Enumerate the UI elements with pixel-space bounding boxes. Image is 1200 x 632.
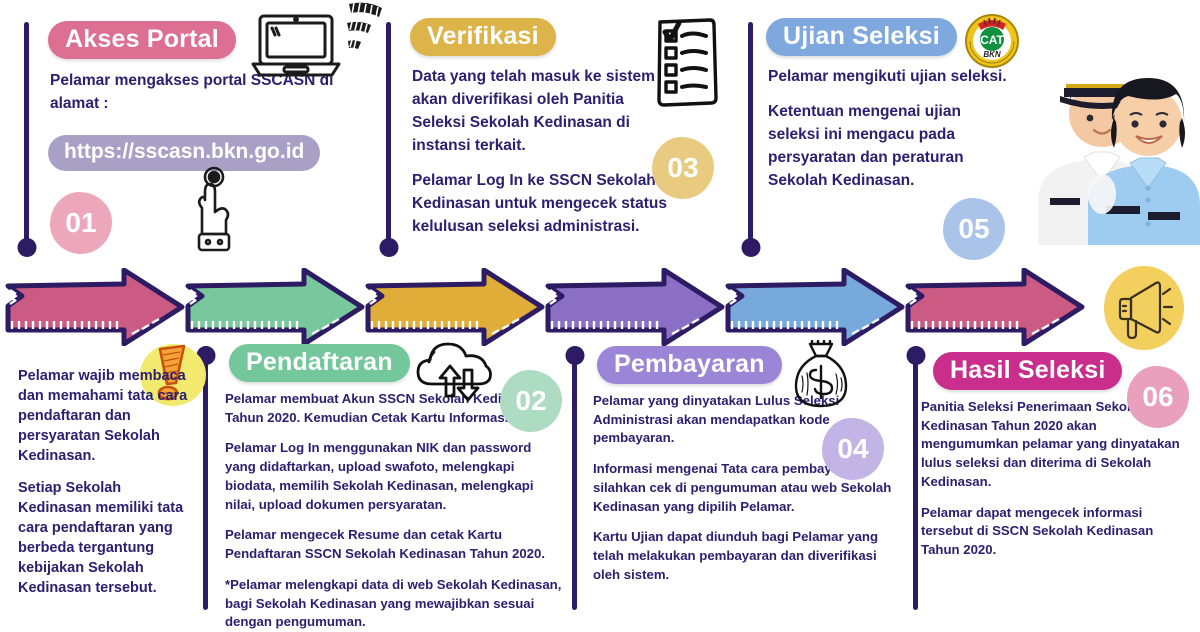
laptop-wifi-icon bbox=[248, 2, 388, 85]
step-05-body: Pelamar mengikuti ujian seleksi. Ketentu… bbox=[768, 66, 1008, 193]
timeline-knob-03 bbox=[379, 238, 398, 257]
step-05-number-bubble: 05 bbox=[943, 198, 1005, 260]
cloud-upload-download-icon bbox=[412, 334, 498, 409]
step-04-paragraph-3: Kartu Ujian dapat diunduh bagi Pelamar y… bbox=[593, 528, 893, 584]
step-06-title: Hasil Seleksi bbox=[950, 356, 1105, 384]
process-arrow-band bbox=[0, 268, 1200, 346]
step-02-title: Pendaftaran bbox=[246, 348, 393, 376]
step-02-paragraph-3: Pelamar mengecek Resume dan cetak Kartu … bbox=[225, 526, 565, 563]
step-02-number-bubble: 02 bbox=[500, 370, 562, 432]
timeline-knob-05 bbox=[741, 238, 760, 257]
step-02-paragraph-4: *Pelamar melengkapi data di web Sekolah … bbox=[225, 576, 565, 632]
step-03-paragraph-2: Pelamar Log In ke SSCN Sekolah Kedinasan… bbox=[412, 170, 672, 239]
step-01-title: Akses Portal bbox=[65, 25, 219, 53]
process-arrow-4 bbox=[544, 268, 726, 346]
step-03-title: Verifikasi bbox=[427, 22, 539, 50]
process-arrow-1 bbox=[4, 268, 186, 346]
step-04-number: 04 bbox=[837, 433, 868, 465]
step-02-number: 02 bbox=[515, 385, 546, 417]
step-01-url-chip[interactable]: https://sscasn.bkn.go.id bbox=[48, 135, 320, 171]
timeline-stem-04 bbox=[572, 355, 577, 610]
process-arrow-5 bbox=[724, 268, 906, 346]
megaphone-badge bbox=[1104, 266, 1184, 350]
portal-url: https://sscasn.bkn.go.id bbox=[64, 140, 304, 163]
step-05-number: 05 bbox=[958, 213, 989, 245]
step-04-number-bubble: 04 bbox=[822, 418, 884, 480]
step-02-title-pill: Pendaftaran bbox=[229, 344, 410, 382]
step-03-number-bubble: 03 bbox=[652, 137, 714, 199]
timeline-knob-01 bbox=[17, 238, 36, 257]
step-06-paragraph-2: Pelamar dapat mengecek informasi tersebu… bbox=[921, 504, 1191, 560]
timeline-stem-05 bbox=[748, 22, 753, 248]
step-01-number-bubble: 01 bbox=[50, 192, 112, 254]
step-04-title: Pembayaran bbox=[614, 350, 765, 378]
step-06-title-pill: Hasil Seleksi bbox=[933, 352, 1122, 390]
step-05-title-pill: Ujian Seleksi bbox=[766, 18, 957, 56]
step-01-number: 01 bbox=[65, 207, 96, 239]
step-02-paragraph-2: Pelamar Log In menggunakan NIK dan passw… bbox=[225, 439, 565, 514]
infographic-canvas: Akses Portal Pelamar mengakses portal SS… bbox=[0, 0, 1200, 630]
checklist-icon bbox=[648, 14, 728, 115]
timeline-stem-02 bbox=[203, 355, 208, 610]
intro-note-body: Pelamar wajib membaca dan memahami tata … bbox=[18, 366, 198, 598]
timeline-knob-04 bbox=[565, 346, 584, 365]
timeline-stem-01 bbox=[24, 22, 29, 248]
step-06-number: 06 bbox=[1142, 381, 1173, 413]
step-03-number: 03 bbox=[667, 152, 698, 184]
process-arrow-2 bbox=[184, 268, 366, 346]
hand-pointer-icon bbox=[186, 164, 242, 261]
cat-bkn-logo: CAT BKN bbox=[962, 10, 1022, 75]
timeline-knob-06 bbox=[906, 346, 925, 365]
megaphone-icon bbox=[1104, 266, 1184, 350]
cat-logo-main: CAT bbox=[980, 33, 1004, 47]
svg-text:BKN: BKN bbox=[983, 50, 1001, 59]
step-05-paragraph-2: Ketentuan mengenai ujian seleksi ini men… bbox=[768, 101, 1008, 193]
intro-note-paragraph-1: Pelamar wajib membaca dan memahami tata … bbox=[18, 366, 198, 466]
step-06-number-bubble: 06 bbox=[1127, 366, 1189, 428]
timeline-stem-06 bbox=[913, 355, 918, 610]
money-bag-icon bbox=[788, 340, 854, 417]
intro-note-paragraph-2: Setiap Sekolah Kedinasan memiliki tata c… bbox=[18, 478, 198, 598]
step-03-title-pill: Verifikasi bbox=[410, 18, 556, 56]
step-04-title-pill: Pembayaran bbox=[597, 346, 782, 384]
step-03-paragraph-1: Data yang telah masuk ke sistem akan div… bbox=[412, 66, 672, 158]
students-illustration bbox=[1030, 30, 1200, 245]
process-arrow-6 bbox=[904, 268, 1086, 346]
step-03-body: Data yang telah masuk ke sistem akan div… bbox=[412, 66, 672, 239]
step-01-title-pill: Akses Portal bbox=[48, 21, 236, 59]
step-05-title: Ujian Seleksi bbox=[783, 22, 940, 50]
